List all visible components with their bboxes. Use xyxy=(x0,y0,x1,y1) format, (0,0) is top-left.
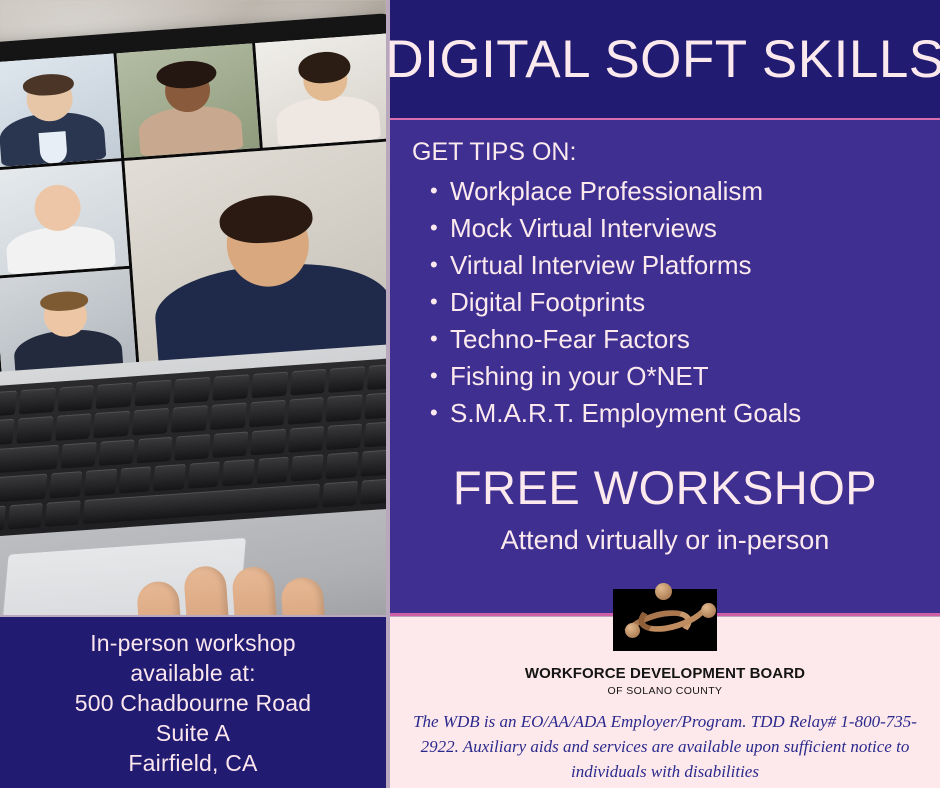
list-item: Workplace Professionalism xyxy=(428,173,940,210)
list-item: Mock Virtual Interviews xyxy=(428,210,940,247)
page-title: DIGITAL SOFT SKILLS xyxy=(385,29,940,90)
video-tile-1 xyxy=(0,53,121,168)
video-tile-4 xyxy=(0,161,129,276)
video-tile-featured xyxy=(125,141,386,373)
list-item: Techno-Fear Factors xyxy=(428,321,940,358)
logo-dot-top xyxy=(655,583,672,600)
legal-disclaimer: The WDB is an EO/AA/ADA Employer/Program… xyxy=(405,709,925,784)
video-call-grid xyxy=(0,33,386,386)
list-item: Fishing in your O*NET xyxy=(428,358,940,395)
address-line: In-person workshop xyxy=(90,628,296,658)
list-item: S.M.A.R.T. Employment Goals xyxy=(428,395,940,432)
tips-list: Workplace Professionalism Mock Virtual I… xyxy=(428,173,940,432)
list-item: Virtual Interview Platforms xyxy=(428,247,940,284)
main-content-panel: GET TIPS ON: Workplace Professionalism M… xyxy=(390,120,940,613)
address-line: Fairfield, CA xyxy=(128,748,257,778)
address-line: 500 Chadbourne Road xyxy=(75,688,312,718)
logo-dot-right xyxy=(701,603,716,618)
laptop-lid xyxy=(0,13,386,404)
video-tile-2 xyxy=(117,43,260,158)
tips-label: GET TIPS ON: xyxy=(412,138,940,167)
poster-flyer: In-person workshop available at: 500 Cha… xyxy=(0,0,940,788)
wdb-swoosh-logo-icon xyxy=(613,589,717,651)
organization-subtitle: OF SOLANO COUNTY xyxy=(608,685,723,697)
footer-panel: WORKFORCE DEVELOPMENT BOARD OF SOLANO CO… xyxy=(390,617,940,788)
free-workshop-headline: FREE WORKSHOP xyxy=(390,460,940,515)
in-person-address-block: In-person workshop available at: 500 Cha… xyxy=(0,617,386,788)
address-line: Suite A xyxy=(156,718,230,748)
logo-container xyxy=(390,589,940,651)
logo-dot-left xyxy=(625,623,640,638)
video-tile-3 xyxy=(255,33,386,148)
attend-subheadline: Attend virtually or in-person xyxy=(390,525,940,556)
laptop-keyboard xyxy=(0,354,386,538)
address-line: available at: xyxy=(130,658,255,688)
laptop-video-call-photo xyxy=(0,0,386,615)
organization-name: WORKFORCE DEVELOPMENT BOARD xyxy=(525,665,805,682)
poster-header: DIGITAL SOFT SKILLS xyxy=(390,0,940,118)
laptop-illustration xyxy=(0,28,386,615)
list-item: Digital Footprints xyxy=(428,284,940,321)
